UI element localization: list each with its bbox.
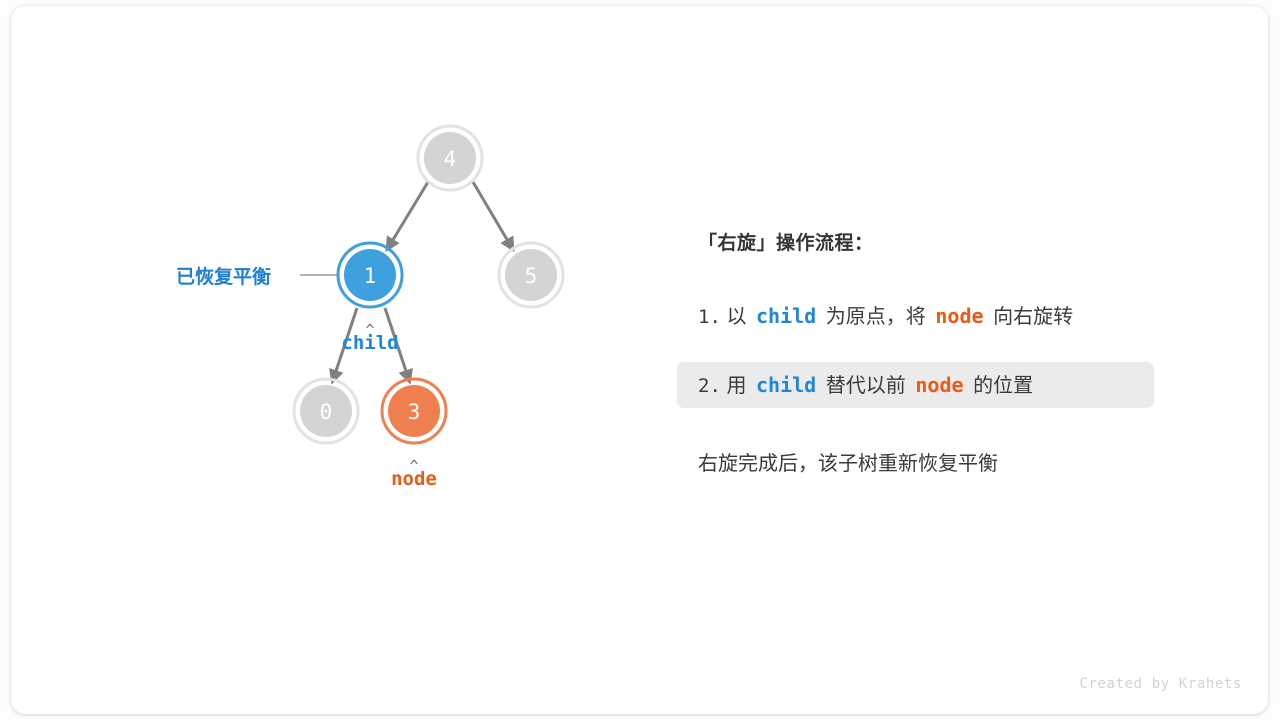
step-item-2-highlight: 2. 用 child 替代以前 node 的位置 <box>677 362 1154 408</box>
side-label-group: 已恢复平衡 <box>176 265 338 288</box>
step-2-index: 2. <box>698 375 721 397</box>
step-2-part-code-blue: child <box>756 373 816 397</box>
tree-node-4[interactable]: 4 <box>418 126 482 190</box>
annotation-node: ^ node <box>391 457 437 490</box>
step-1-content: 以 child 为原点，将 node 向右旋转 <box>726 306 1077 328</box>
step-item-2: 2. 用 child 替代以前 node 的位置 <box>698 375 1037 396</box>
tree-node-3[interactable]: 3 <box>382 379 446 443</box>
edge-4-to-5 <box>473 182 512 248</box>
step-2-part-code-orange: node <box>915 373 963 397</box>
figure-canvas: 已恢复平衡 4 5 0 1 3 <box>0 0 1280 720</box>
tree-node-3-value: 3 <box>408 400 421 424</box>
edge-4-to-1 <box>388 182 428 248</box>
step-1-part-code-orange: node <box>935 304 983 328</box>
avl-tree-diagram: 已恢复平衡 4 5 0 1 3 <box>0 0 660 720</box>
tree-node-0[interactable]: 0 <box>294 379 358 443</box>
step-2-part-cn: 替代以前 <box>826 373 906 397</box>
annotation-node-label: node <box>391 468 437 490</box>
step-1-part-cn: 为原点，将 <box>826 304 926 328</box>
tree-node-0-value: 0 <box>320 400 333 424</box>
step-1-index: 1. <box>698 306 721 328</box>
tree-node-5[interactable]: 5 <box>499 243 563 307</box>
step-1-part-cn: 以 <box>726 304 746 328</box>
step-2-content: 用 child 替代以前 node 的位置 <box>726 375 1037 397</box>
tree-node-5-value: 5 <box>525 264 538 288</box>
annotation-child-label: child <box>341 332 398 354</box>
tree-node-1-value: 1 <box>364 264 377 288</box>
side-label-text: 已恢复平衡 <box>176 265 271 288</box>
tree-node-1[interactable]: 1 <box>338 243 402 307</box>
step-1-part-cn: 向右旋转 <box>993 304 1073 328</box>
step-item-1: 1. 以 child 为原点，将 node 向右旋转 <box>698 306 1077 327</box>
watermark: Created by Krahets <box>1079 676 1242 692</box>
panel-note: 右旋完成后，该子树重新恢复平衡 <box>698 447 998 476</box>
panel-title: 「右旋」操作流程： <box>698 228 874 255</box>
tree-node-4-value: 4 <box>444 147 457 171</box>
step-1-part-code-blue: child <box>756 304 816 328</box>
step-2-part-cn: 的位置 <box>973 373 1033 397</box>
step-2-part-cn: 用 <box>726 373 746 397</box>
